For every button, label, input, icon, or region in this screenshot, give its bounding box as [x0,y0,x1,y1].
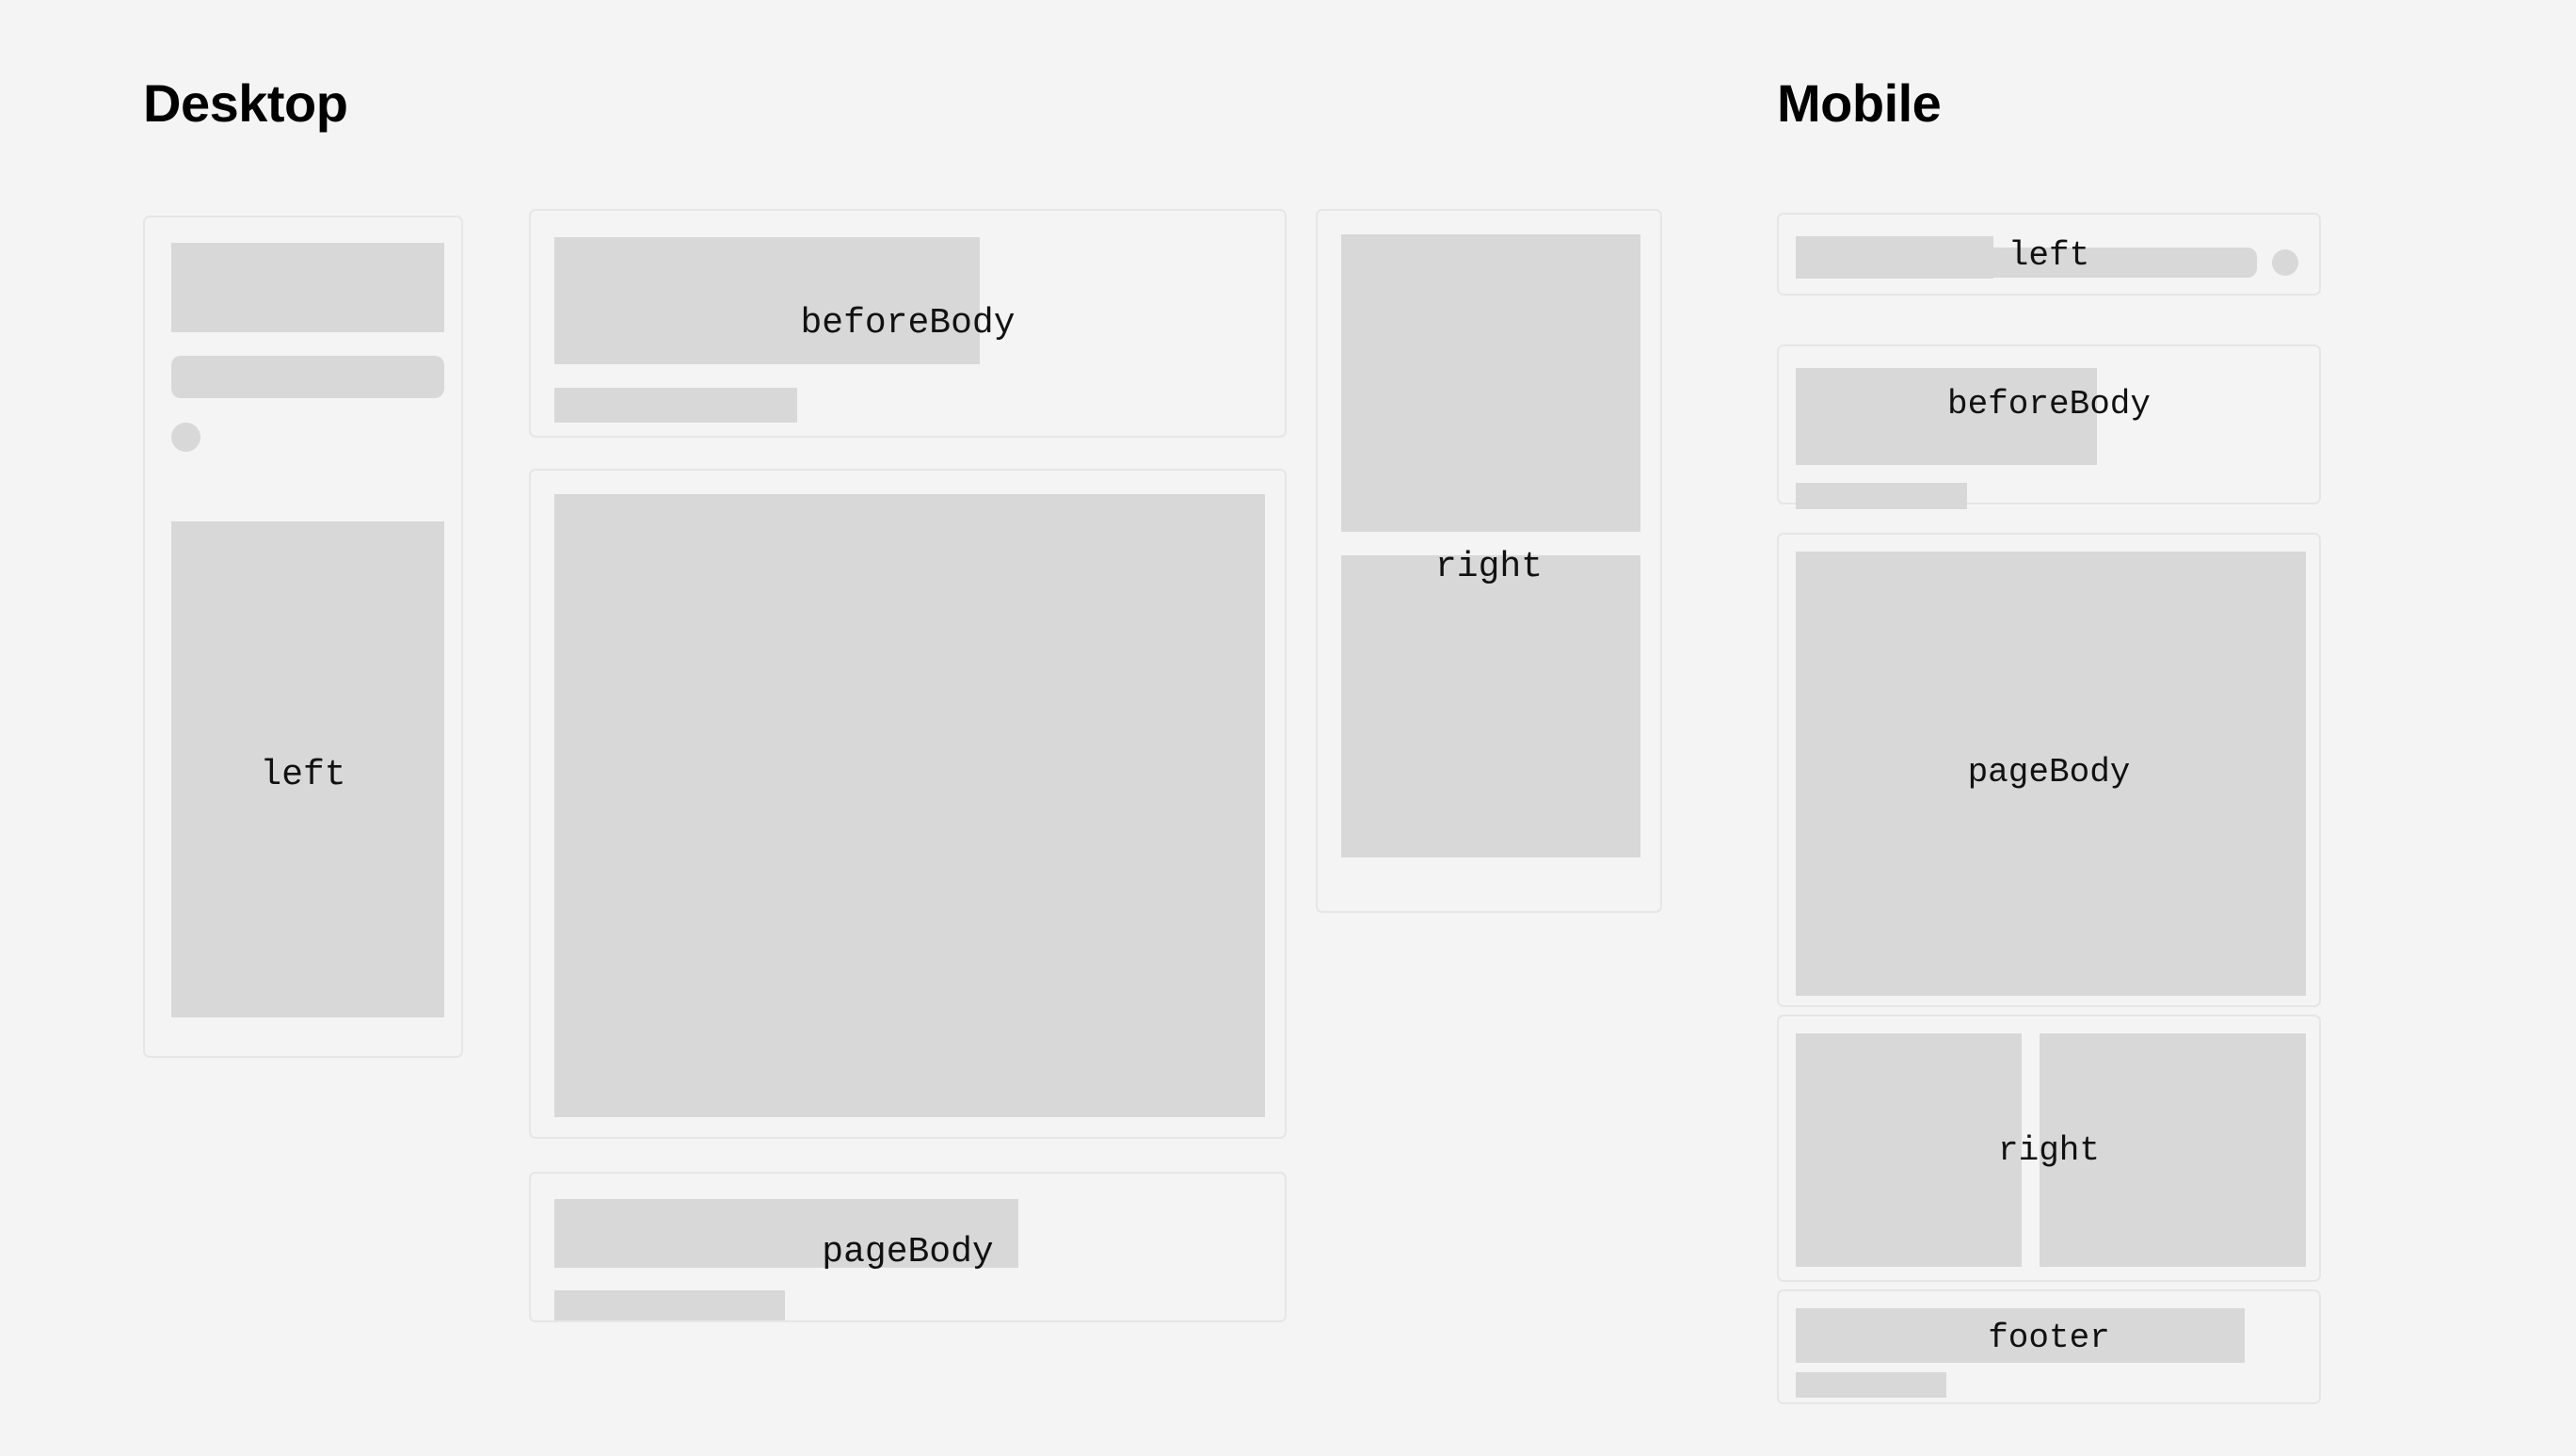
mobile-before-body-panel[interactable]: beforeBody [1777,344,2321,504]
mobile-right-block-2 [2040,1033,2306,1267]
mobile-page-body-panel[interactable]: pageBody [1777,533,2321,1007]
desktop-footer-block-1 [554,1199,1018,1268]
mobile-page-body-block [1796,552,2306,996]
mobile-footer-block-1 [1796,1308,2245,1363]
desktop-page-body-block [554,494,1265,1117]
mobile-footer-panel[interactable]: footer [1777,1289,2321,1404]
desktop-footer-block-2 [554,1290,785,1320]
desktop-before-body-panel[interactable]: beforeBody [529,209,1287,438]
desktop-left-block-1 [171,243,444,332]
mobile-section-title: Mobile [1777,77,1941,130]
desktop-before-body-block-1 [554,237,980,364]
desktop-left-block-3 [171,521,444,1017]
mobile-footer-block-2 [1796,1372,1946,1398]
desktop-left-avatar-circle [171,423,200,452]
mobile-before-body-block-1 [1796,368,2097,465]
desktop-page-body-panel[interactable]: pageBody [529,469,1287,1139]
desktop-left-block-2 [171,356,444,398]
desktop-right-block-1 [1341,234,1640,532]
mobile-right-panel[interactable]: right [1777,1015,2321,1282]
desktop-right-block-2 [1341,555,1640,857]
desktop-right-panel[interactable]: right [1316,209,1662,913]
mobile-before-body-block-2 [1796,483,1967,509]
desktop-footer-panel[interactable]: footer [529,1172,1287,1322]
mobile-left-pill [1993,248,2257,278]
desktop-section-title: Desktop [143,77,347,130]
mobile-left-panel[interactable]: left [1777,213,2321,296]
mobile-left-avatar-circle [2272,249,2298,276]
mobile-right-block-1 [1796,1033,2022,1267]
desktop-before-body-block-2 [554,388,797,423]
wireframe-canvas: Desktop left beforeBody pageBody right [0,0,2576,1456]
desktop-left-panel[interactable]: left [143,216,463,1058]
mobile-left-block-1 [1796,236,1993,279]
